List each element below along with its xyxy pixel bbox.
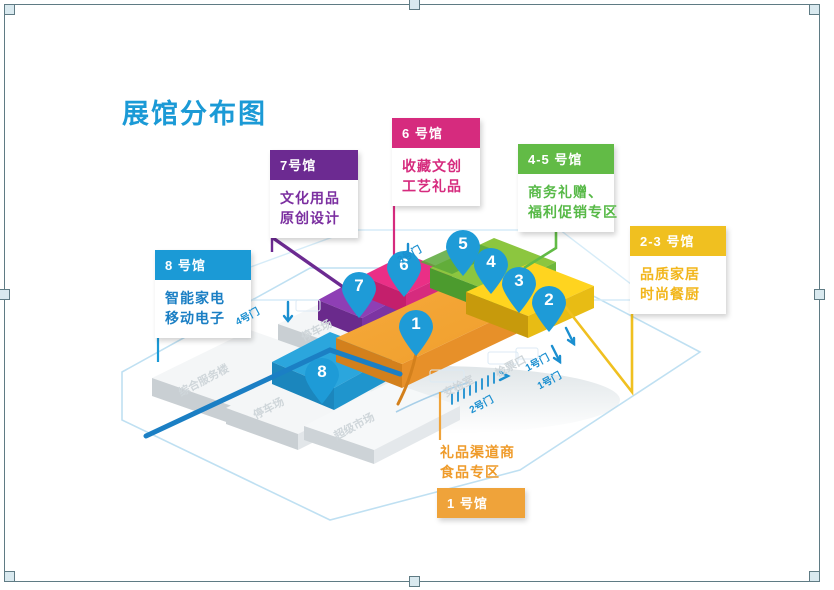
callout-hall-6[interactable]: 6 号馆 收藏文创 工艺礼品 — [392, 118, 480, 206]
callout-hall-45-header: 4-5 号馆 — [518, 144, 614, 174]
callout-hall-45[interactable]: 4-5 号馆 商务礼赠、 福利促销专区 — [518, 144, 614, 232]
callout-hall-45-line2: 福利促销专区 — [528, 202, 604, 222]
callout-hall-8-line2: 移动电子 — [165, 308, 241, 328]
callout-hall-8-body: 智能家电 移动电子 — [155, 280, 251, 338]
page-title: 展馆分布图 — [122, 92, 267, 131]
map-pin-1[interactable]: 1 — [397, 310, 435, 356]
callout-hall-8-header: 8 号馆 — [155, 250, 251, 280]
callout-hall-23-header: 2-3 号馆 — [630, 226, 726, 256]
callout-hall-7[interactable]: 7号馆 文化用品 原创设计 — [270, 150, 358, 238]
callout-hall-6-line2: 工艺礼品 — [402, 176, 470, 196]
map-pin-5[interactable]: 5 — [444, 230, 482, 276]
callout-hall-45-body: 商务礼赠、 福利促销专区 — [518, 174, 614, 232]
map-pin-7[interactable]: 7 — [340, 272, 378, 318]
callout-hall-1-line1: 礼品渠道商 — [440, 442, 525, 462]
callout-hall-7-line2: 原创设计 — [280, 208, 348, 228]
callout-hall-7-body: 文化用品 原创设计 — [270, 180, 358, 238]
exhibition-map-canvas: 展馆分布图 7号馆 文化用品 原创设计 6 号馆 收藏文创 工艺礼品 4-5 号… — [0, 0, 834, 590]
callout-hall-1-header: 1 号馆 — [437, 488, 525, 518]
map-pin-number: 7 — [340, 276, 378, 296]
callout-hall-23-line1: 品质家居 — [640, 264, 716, 284]
callout-hall-1[interactable]: 礼品渠道商 食品专区 1 号馆 — [437, 442, 525, 518]
map-pin-number: 5 — [444, 234, 482, 254]
map-pin-number: 1 — [397, 314, 435, 334]
callout-hall-6-body: 收藏文创 工艺礼品 — [392, 148, 480, 206]
map-pin-8[interactable]: 8 — [303, 358, 341, 404]
callout-hall-6-header: 6 号馆 — [392, 118, 480, 148]
callout-hall-23-line2: 时尚餐厨 — [640, 284, 716, 304]
callout-hall-6-line1: 收藏文创 — [402, 156, 470, 176]
map-pin-number: 8 — [303, 362, 341, 382]
callout-hall-1-body: 礼品渠道商 食品专区 — [437, 442, 525, 488]
callout-hall-1-line2: 食品专区 — [440, 462, 525, 482]
callout-hall-45-line1: 商务礼赠、 — [528, 182, 604, 202]
callout-hall-8-line1: 智能家电 — [165, 288, 241, 308]
callout-hall-23[interactable]: 2-3 号馆 品质家居 时尚餐厨 — [630, 226, 726, 314]
callout-hall-7-header: 7号馆 — [270, 150, 358, 180]
callout-hall-23-body: 品质家居 时尚餐厨 — [630, 256, 726, 314]
callout-hall-7-line1: 文化用品 — [280, 188, 348, 208]
